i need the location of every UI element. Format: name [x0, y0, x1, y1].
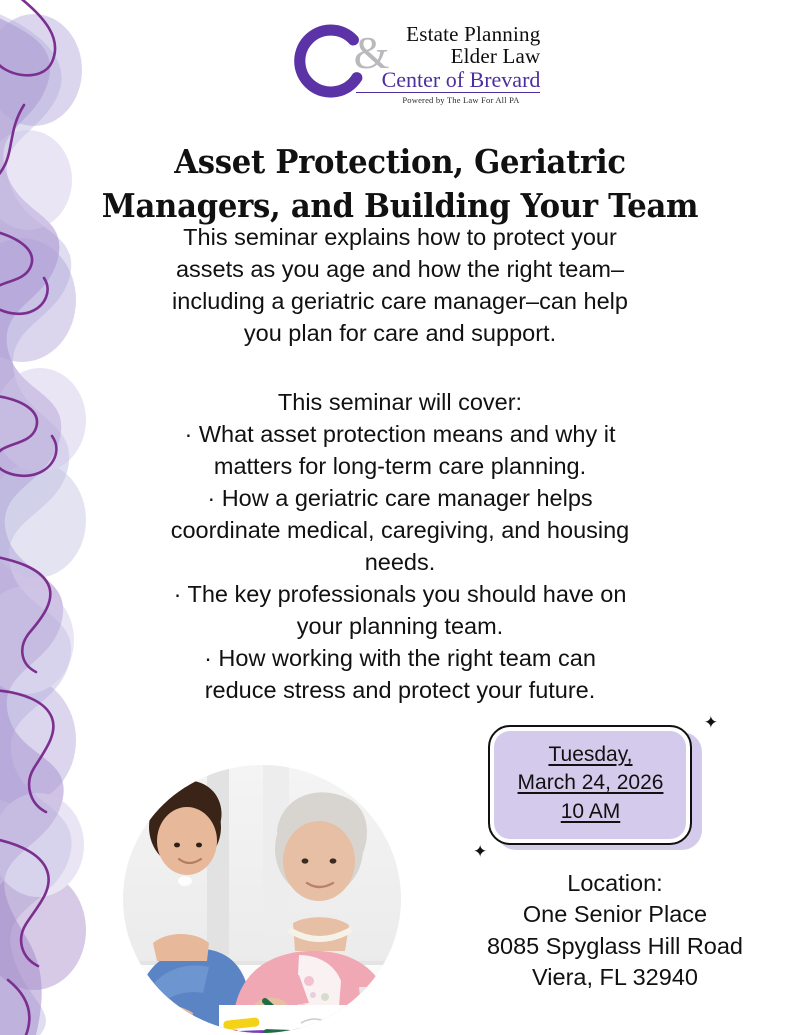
logo-line-elder-law: Elder Law: [356, 46, 541, 67]
logo-line-center-of-brevard: Center of Brevard: [356, 69, 541, 93]
intro-line-1: This seminar explains how to protect you…: [90, 222, 710, 254]
intro-line-3: including a geriatric care manager–can h…: [90, 286, 710, 318]
location-block: Location: One Senior Place 8085 Spyglass…: [440, 868, 790, 993]
cover-heading: This seminar will cover:: [80, 387, 720, 419]
date-badge: Tuesday, March 24, 2026 10 AM ✦ ✦: [480, 718, 720, 863]
decor-layer-lavender: [0, 14, 86, 990]
sparkle-icon-bottom-left: ✦: [473, 843, 487, 860]
seminar-photo: [123, 765, 401, 1033]
cover-line: reduce stress and protect your future.: [80, 675, 720, 707]
title-line-2: Managers, and Building Your Team: [84, 184, 716, 228]
location-label: Location:: [440, 868, 790, 899]
badge-line-date: March 24, 2026: [518, 771, 664, 795]
intro-line-2: assets as you age and how the right team…: [90, 254, 710, 286]
logo-tagline: Powered by The Law For All PA: [356, 96, 541, 105]
decor-squiggle-line: [0, 0, 56, 1035]
cover-line: · How a geriatric care manager helps: [80, 483, 720, 515]
location-city-state-zip: Viera, FL 32940: [440, 962, 790, 993]
location-street: 8085 Spyglass Hill Road: [440, 931, 790, 962]
logo-line-estate-planning: Estate Planning: [356, 24, 541, 45]
badge-text: Tuesday, March 24, 2026 10 AM: [488, 725, 693, 841]
intro-paragraph: This seminar explains how to protect you…: [90, 222, 710, 350]
cover-line: coordinate medical, caregiving, and hous…: [80, 515, 720, 547]
cover-line: matters for long-term care planning.: [80, 451, 720, 483]
cover-line: needs.: [80, 547, 720, 579]
page-title: Asset Protection, Geriatric Managers, an…: [84, 140, 716, 227]
cover-line: · How working with the right team can: [80, 643, 720, 675]
cover-line: your planning team.: [80, 611, 720, 643]
seminar-topics-block: This seminar will cover: · What asset pr…: [80, 387, 720, 707]
badge-line-day: Tuesday,: [548, 743, 632, 767]
decor-layer-mid: [0, 0, 64, 1035]
cover-line: · What asset protection means and why it: [80, 419, 720, 451]
photo-illustration: [123, 765, 401, 1033]
title-line-1: Asset Protection, Geriatric: [84, 140, 716, 184]
location-venue: One Senior Place: [440, 899, 790, 930]
sparkle-icon-top-right: ✦: [704, 714, 718, 731]
cover-lines-list: · What asset protection means and why it…: [80, 419, 720, 707]
decor-layer-light: [0, 0, 72, 1035]
intro-line-4: you plan for care and support.: [90, 318, 710, 350]
badge-line-time: 10 AM: [561, 800, 621, 824]
cover-line: · The key professionals you should have …: [80, 579, 720, 611]
organization-logo: & Estate Planning Elder Law Center of Br…: [0, 14, 800, 114]
